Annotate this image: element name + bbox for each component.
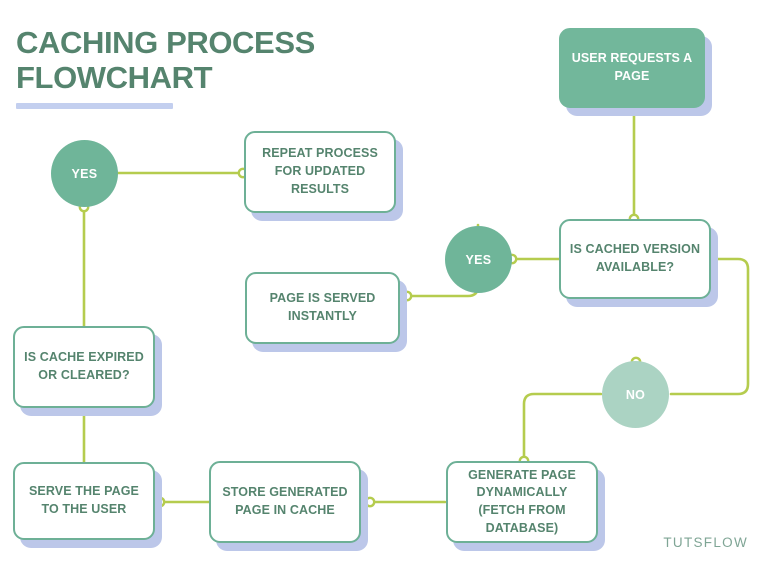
- node-is-cache-expired-or-cleared[interactable]: IS CACHE EXPIRED OR CLEARED?: [13, 326, 155, 408]
- connector-dot-pageserved-right: [403, 292, 411, 300]
- page-title-line-2: FLOWCHART: [16, 61, 416, 96]
- node-repeat-process-for-updated-results-label: REPEAT PROCESS FOR UPDATED RESULTS: [254, 145, 386, 198]
- page-title: CACHING PROCESS FLOWCHART: [16, 26, 416, 109]
- connector-dot-store-right: [366, 498, 374, 506]
- node-store-generated-page-in-cache[interactable]: STORE GENERATED PAGE IN CACHE: [209, 461, 361, 543]
- node-serve-the-page-to-the-user[interactable]: SERVE THE PAGE TO THE USER: [13, 462, 155, 540]
- node-no-branch[interactable]: NO: [602, 361, 669, 428]
- node-page-is-served-instantly[interactable]: PAGE IS SERVED INSTANTLY: [245, 272, 400, 344]
- node-page-is-served-instantly-label: PAGE IS SERVED INSTANTLY: [255, 290, 390, 326]
- node-user-requests-a-page-label: USER REQUESTS A PAGE: [569, 50, 695, 86]
- node-user-requests-a-page[interactable]: USER REQUESTS A PAGE: [559, 28, 705, 108]
- title-underline-rule: [16, 103, 173, 109]
- node-is-cached-version-available[interactable]: IS CACHED VERSION AVAILABLE?: [559, 219, 711, 299]
- node-yes-expired-branch[interactable]: YES: [51, 140, 118, 207]
- connector-dot-serve-right: [156, 498, 164, 506]
- node-generate-page-dynamically-label: GENERATE PAGE DYNAMICALLY (FETCH FROM DA…: [456, 467, 588, 538]
- node-yes-cached-branch-label: YES: [466, 253, 492, 267]
- node-is-cached-version-available-label: IS CACHED VERSION AVAILABLE?: [569, 241, 701, 277]
- watermark-tutsflow: TUTSFLOW: [663, 535, 748, 550]
- page-title-line-1: CACHING PROCESS: [16, 26, 416, 61]
- node-is-cache-expired-or-cleared-label: IS CACHE EXPIRED OR CLEARED?: [23, 349, 145, 385]
- flowchart-canvas: CACHING PROCESS FLOWCHART: [0, 0, 768, 576]
- node-store-generated-page-in-cache-label: STORE GENERATED PAGE IN CACHE: [219, 484, 351, 520]
- node-generate-page-dynamically[interactable]: GENERATE PAGE DYNAMICALLY (FETCH FROM DA…: [446, 461, 598, 543]
- node-yes-expired-branch-label: YES: [72, 167, 98, 181]
- node-serve-the-page-to-the-user-label: SERVE THE PAGE TO THE USER: [23, 483, 145, 519]
- wire-no-to-generate: [524, 394, 601, 461]
- node-no-branch-label: NO: [626, 388, 645, 402]
- node-yes-cached-branch[interactable]: YES: [445, 226, 512, 293]
- node-repeat-process-for-updated-results[interactable]: REPEAT PROCESS FOR UPDATED RESULTS: [244, 131, 396, 213]
